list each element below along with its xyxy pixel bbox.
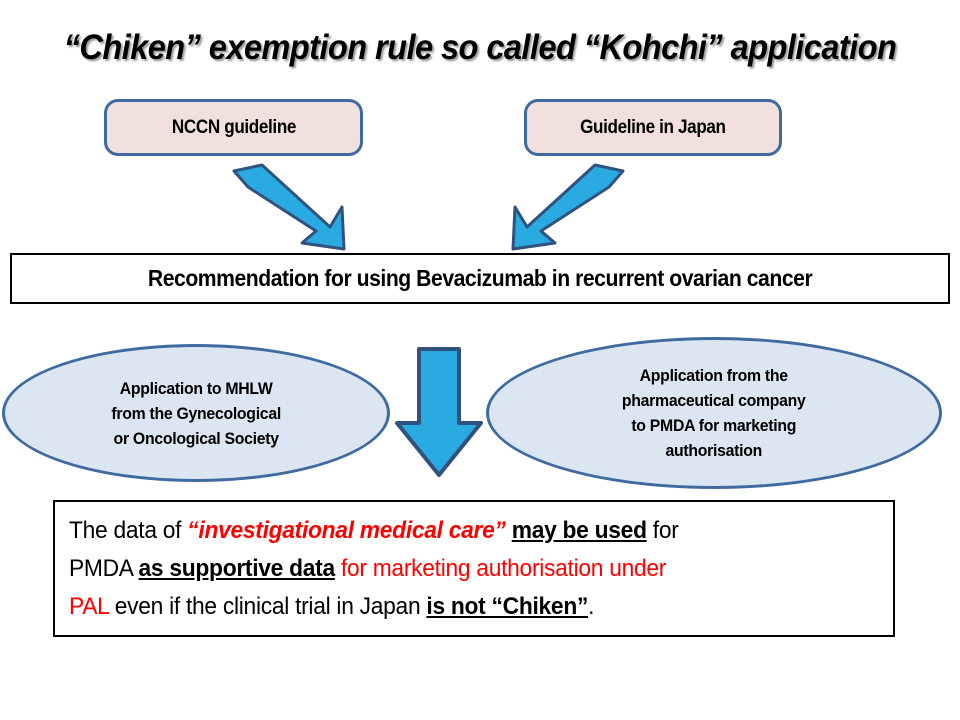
ellipse-left-line-2: from the Gynecological — [111, 401, 281, 426]
application-to-mhlw-ellipse[interactable]: Application to MHLW from the Gynecologic… — [2, 344, 390, 482]
statement-l3-red: PAL — [69, 593, 109, 620]
statement-l2-red: for marketing authorisation under — [335, 555, 666, 582]
arrow-down-icon — [393, 345, 485, 480]
statement-line-3: PAL even if the clinical trial in Japan … — [69, 588, 839, 626]
statement-box[interactable]: The data of “investigational medical car… — [53, 500, 895, 637]
statement-line-2: PMDA as supportive data for marketing au… — [69, 550, 839, 588]
ellipse-left-line-1: Application to MHLW — [111, 376, 281, 401]
statement-l3-seg2: even if the clinical trial in Japan — [109, 593, 427, 620]
arrow-down-right-icon — [222, 163, 352, 253]
ellipse-right-line-4: authorisation — [622, 438, 806, 463]
recommendation-label: Recommendation for using Bevacizumab in … — [148, 265, 812, 292]
recommendation-box[interactable]: Recommendation for using Bevacizumab in … — [10, 253, 950, 304]
arrow-down-left-icon — [505, 163, 635, 253]
statement-l1-emphasis-underline: may be used — [512, 517, 647, 544]
statement-l3-seg4: . — [588, 593, 594, 620]
statement-line-1: The data of “investigational medical car… — [69, 512, 839, 550]
nccn-guideline-box[interactable]: NCCN guideline — [104, 99, 363, 156]
application-to-mhlw-text: Application to MHLW from the Gynecologic… — [111, 376, 281, 451]
statement-l2-seg1: PMDA — [69, 555, 139, 582]
nccn-guideline-label: NCCN guideline — [171, 117, 295, 139]
application-from-pharma-text: Application from the pharmaceutical comp… — [622, 363, 806, 463]
statement-l1-emphasis-red: “investigational medical care” — [187, 517, 505, 544]
ellipse-right-line-2: pharmaceutical company — [622, 388, 806, 413]
slide-canvas: “Chiken” exemption rule so called “Kohch… — [0, 0, 960, 720]
ellipse-right-line-3: to PMDA for marketing — [622, 413, 806, 438]
statement-l3-emphasis-underline: is not “Chiken” — [426, 593, 588, 620]
ellipse-left-line-3: or Oncological Society — [111, 426, 281, 451]
statement-l2-emphasis-underline: as supportive data — [139, 555, 335, 582]
ellipse-right-line-1: Application from the — [622, 363, 806, 388]
japan-guideline-box[interactable]: Guideline in Japan — [524, 99, 782, 156]
page-title: “Chiken” exemption rule so called “Kohch… — [34, 28, 927, 68]
statement-l1-seg5: for — [647, 517, 679, 544]
japan-guideline-label: Guideline in Japan — [580, 117, 726, 139]
statement-l1-seg1: The data of — [69, 517, 187, 544]
application-from-pharma-ellipse[interactable]: Application from the pharmaceutical comp… — [486, 337, 942, 489]
